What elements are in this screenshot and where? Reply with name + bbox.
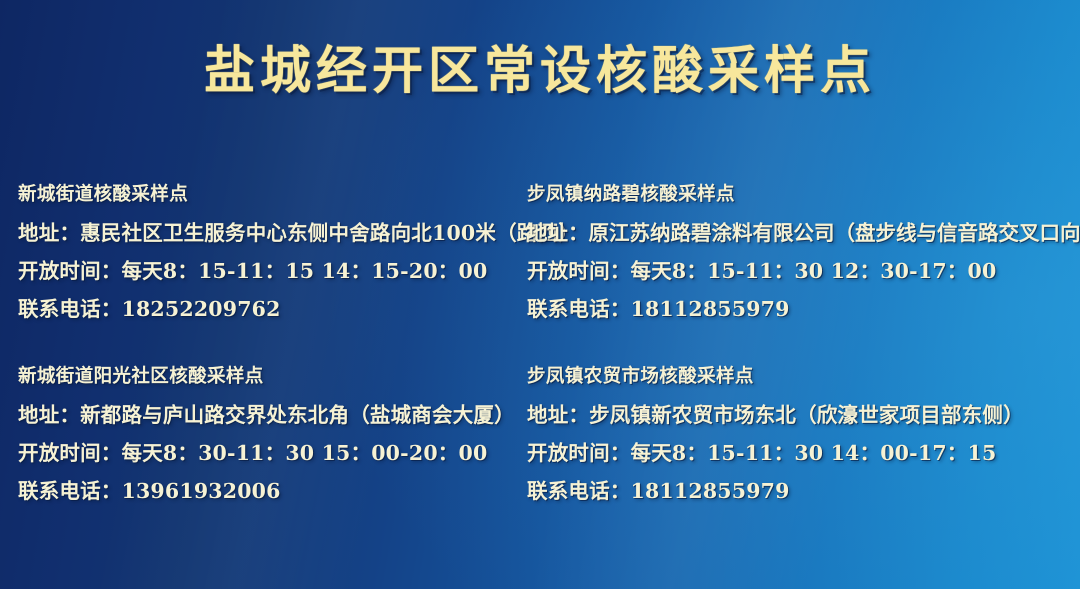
sampling-site-card: 步凤镇农贸市场核酸采样点 地址：步凤镇新农贸市场东北（欣濠世家项目部东侧） 开放… <box>527 358 1080 510</box>
site-phone: 联系电话：18112855979 <box>527 472 1080 510</box>
site-hours: 开放时间：每天8：30-11：30 15：00-20：00 <box>18 434 527 472</box>
poster-root: 盐城经开区常设核酸采样点 新城街道核酸采样点 地址：惠民社区卫生服务中心东侧中舍… <box>0 0 1080 589</box>
site-hours: 开放时间：每天8：15-11：30 14：00-17：15 <box>527 434 1080 472</box>
site-phone: 联系电话：13961932006 <box>18 472 527 510</box>
site-phone: 联系电话：18252209762 <box>18 290 527 328</box>
site-name: 步凤镇纳路碧核酸采样点 <box>527 176 1080 214</box>
site-hours: 开放时间：每天8：15-11：30 12：30-17：00 <box>527 252 1080 290</box>
site-phone: 联系电话：18112855979 <box>527 290 1080 328</box>
site-name: 新城街道核酸采样点 <box>18 176 527 214</box>
title-section: 盐城经开区常设核酸采样点 <box>0 0 1080 99</box>
site-address: 地址：惠民社区卫生服务中心东侧中舍路向北100米（路西） <box>18 214 527 252</box>
sampling-site-card: 步凤镇纳路碧核酸采样点 地址：原江苏纳路碧涂料有限公司（盘步线与信音路交叉口向南… <box>527 176 1080 328</box>
site-address: 地址：原江苏纳路碧涂料有限公司（盘步线与信音路交叉口向南80米） <box>527 214 1080 252</box>
sampling-site-card: 新城街道核酸采样点 地址：惠民社区卫生服务中心东侧中舍路向北100米（路西） 开… <box>18 176 527 328</box>
site-hours: 开放时间：每天8：15-11：15 14：15-20：00 <box>18 252 527 290</box>
sampling-site-card: 新城街道阳光社区核酸采样点 地址：新都路与庐山路交界处东北角（盐城商会大厦） 开… <box>18 358 527 510</box>
site-address: 地址：新都路与庐山路交界处东北角（盐城商会大厦） <box>18 396 527 434</box>
site-name: 步凤镇农贸市场核酸采样点 <box>527 358 1080 396</box>
site-name: 新城街道阳光社区核酸采样点 <box>18 358 527 396</box>
sampling-site-list: 新城街道核酸采样点 地址：惠民社区卫生服务中心东侧中舍路向北100米（路西） 开… <box>0 176 1080 510</box>
page-title: 盐城经开区常设核酸采样点 <box>204 44 876 99</box>
site-address: 地址：步凤镇新农贸市场东北（欣濠世家项目部东侧） <box>527 396 1080 434</box>
